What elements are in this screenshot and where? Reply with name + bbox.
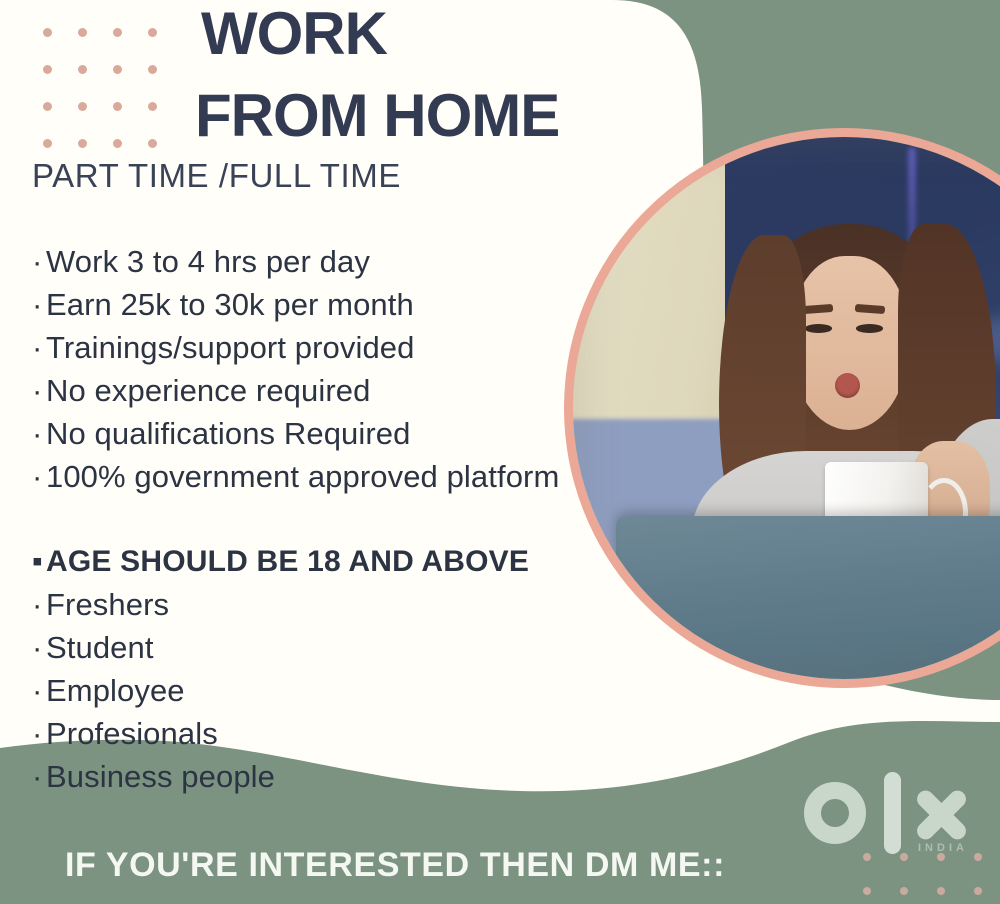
- photo-circle: [564, 128, 1000, 688]
- list-item-label: No qualifications Required: [46, 416, 410, 451]
- list-item: ·100% government approved platform: [32, 455, 559, 498]
- dot-icon: [43, 102, 52, 111]
- bullet-icon: ·: [32, 326, 46, 369]
- list-item: ·Trainings/support provided: [32, 326, 559, 369]
- dot-icon: [148, 102, 157, 111]
- list-item: ·No qualifications Required: [32, 412, 559, 455]
- dot-icon: [900, 887, 908, 895]
- dot-icon: [78, 65, 87, 74]
- list-item-label: 100% government approved platform: [46, 459, 559, 494]
- bullet-icon: ·: [32, 583, 46, 626]
- dot-icon: [863, 887, 871, 895]
- dot-icon: [974, 887, 982, 895]
- dot-icon: [113, 65, 122, 74]
- bullet-icon: ·: [32, 626, 46, 669]
- bullet-icon: ·: [32, 240, 46, 283]
- list-item: ·Business people: [32, 755, 529, 798]
- bullet-icon: ·: [32, 669, 46, 712]
- list-item-label: Profesionals: [46, 716, 218, 751]
- list-item: ·Work 3 to 4 hrs per day: [32, 240, 559, 283]
- list-item: ·Employee: [32, 669, 529, 712]
- list-item: ·Freshers: [32, 583, 529, 626]
- bullet-icon: ·: [32, 369, 46, 412]
- list-item-label: No experience required: [46, 373, 370, 408]
- list-item-label: Freshers: [46, 587, 169, 622]
- list-item-label: Earn 25k to 30k per month: [46, 287, 414, 322]
- audience-list: ▪AGE SHOULD BE 18 AND ABOVE ·Freshers ·S…: [32, 540, 529, 798]
- olx-letter-x-icon: [912, 786, 970, 844]
- dot-icon: [78, 28, 87, 37]
- cta-text: IF YOU'RE INTERESTED THEN DM ME::: [0, 846, 1000, 885]
- dot-icon: [113, 102, 122, 111]
- list-item: ·No experience required: [32, 369, 559, 412]
- benefits-list: ·Work 3 to 4 hrs per day ·Earn 25k to 30…: [32, 240, 559, 498]
- bullet-icon: ·: [32, 455, 46, 498]
- bullet-icon: ·: [32, 412, 46, 455]
- list-item-label: Employee: [46, 673, 185, 708]
- photo-vignette: [573, 137, 1000, 679]
- dot-icon: [78, 102, 87, 111]
- list-item: ·Profesionals: [32, 712, 529, 755]
- dot-icon: [78, 139, 87, 148]
- bullet-icon: ·: [32, 755, 46, 798]
- olx-letter-o-icon: [804, 782, 866, 844]
- list-item-label: Business people: [46, 759, 275, 794]
- audience-heading: ▪AGE SHOULD BE 18 AND ABOVE: [32, 540, 529, 583]
- list-item-label: Trainings/support provided: [46, 330, 415, 365]
- dot-icon: [148, 28, 157, 37]
- list-item: ·Earn 25k to 30k per month: [32, 283, 559, 326]
- dot-icon: [43, 139, 52, 148]
- dot-icon: [148, 65, 157, 74]
- bullet-icon: ·: [32, 712, 46, 755]
- audience-heading-label: AGE SHOULD BE 18 AND ABOVE: [46, 545, 529, 578]
- dot-icon: [43, 65, 52, 74]
- list-item: ·Student: [32, 626, 529, 669]
- subtitle: PART TIME /FULL TIME: [32, 157, 401, 195]
- dot-icon: [113, 28, 122, 37]
- list-item-label: Work 3 to 4 hrs per day: [46, 244, 370, 279]
- headline-line-1: WORK: [195, 4, 835, 64]
- headline-block: WORK FROM HOME: [195, 4, 835, 146]
- list-item-label: Student: [46, 630, 154, 665]
- poster-root: WORK FROM HOME PART TIME /FULL TIME ·Wor…: [0, 0, 1000, 904]
- dot-icon: [113, 139, 122, 148]
- square-bullet-icon: ▪: [32, 540, 46, 583]
- dot-grid-decoration: [30, 14, 170, 162]
- dot-icon: [148, 139, 157, 148]
- dot-icon: [43, 28, 52, 37]
- photo-image: [573, 137, 1000, 679]
- dot-icon: [937, 887, 945, 895]
- bullet-icon: ·: [32, 283, 46, 326]
